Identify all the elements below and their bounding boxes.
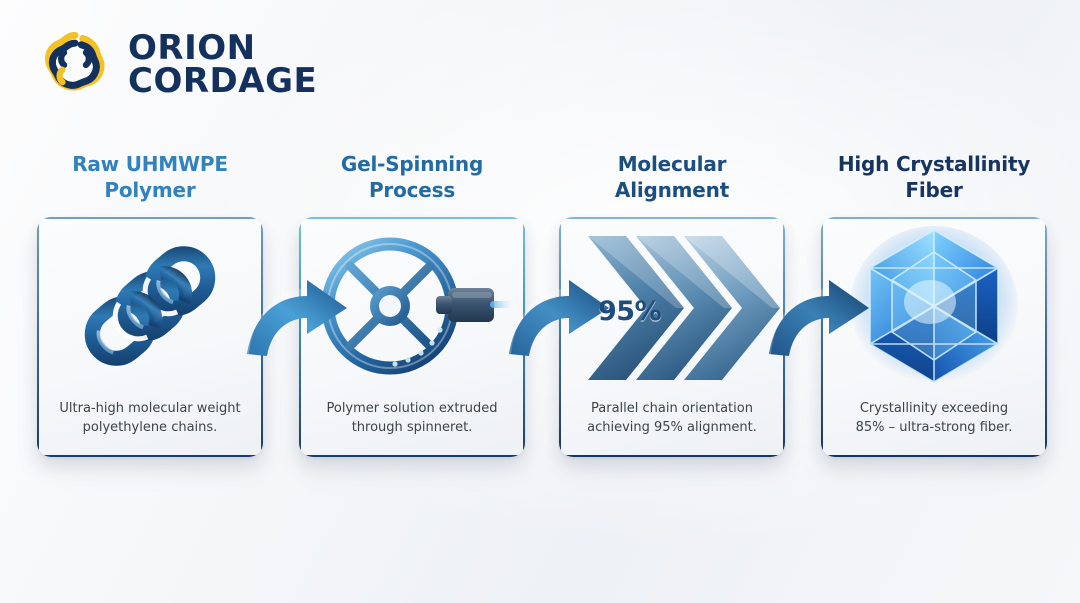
brand-logo: ORION CORDAGE	[36, 26, 317, 104]
alignment-percent-badge: 95%	[598, 296, 661, 327]
braided-rope-circle-icon	[36, 26, 114, 104]
connector-arrow-1	[243, 272, 351, 362]
connector-arrow-2	[505, 272, 613, 362]
infographic-canvas: ORION CORDAGE Raw UHMWPE Polymer	[0, 0, 1080, 603]
process-step-1: Raw UHMWPE Polymer	[37, 152, 263, 457]
step-1-title: Raw UHMWPE Polymer	[37, 152, 263, 203]
step-4-caption: Crystallinity exceeding 85% – ultra-stro…	[833, 400, 1035, 437]
brand-line-2: CORDAGE	[128, 65, 317, 98]
chain-links-icon	[55, 226, 245, 386]
step-1-card: Ultra-high molecular weight polyethylene…	[37, 217, 263, 457]
step-1-artwork	[37, 223, 263, 389]
brand-wordmark: ORION CORDAGE	[128, 32, 317, 99]
step-2-caption: Polymer solution extruded through spinne…	[311, 400, 513, 437]
step-3-caption: Parallel chain orientation achieving 95%…	[571, 400, 773, 437]
brand-line-1: ORION	[128, 32, 317, 65]
step-3-title: Molecular Alignment	[559, 152, 785, 203]
step-4-title: High Crystallinity Fiber	[821, 152, 1047, 203]
connector-arrow-3	[765, 272, 873, 362]
step-1-caption: Ultra-high molecular weight polyethylene…	[49, 400, 251, 437]
step-2-title: Gel-Spinning Process	[299, 152, 525, 203]
